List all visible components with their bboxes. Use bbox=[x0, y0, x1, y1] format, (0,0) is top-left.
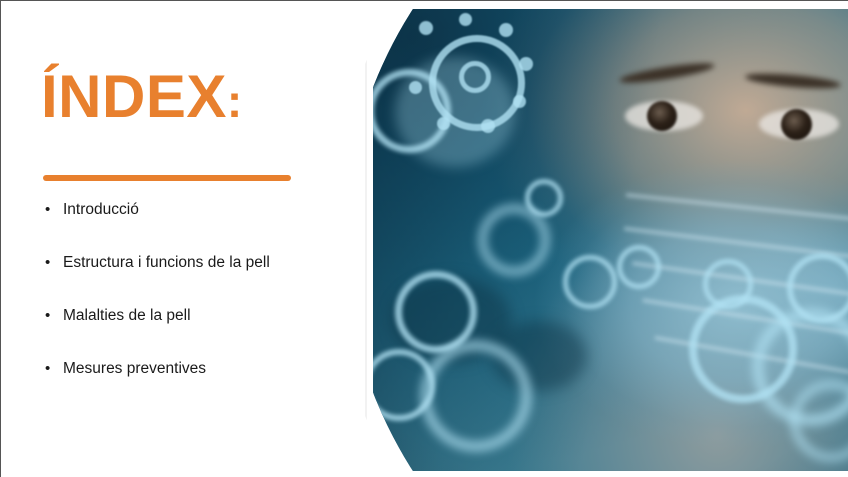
bullet-dot-icon: • bbox=[45, 252, 63, 274]
list-item[interactable]: • Malalties de la pell bbox=[45, 305, 365, 358]
bullet-dot-icon: • bbox=[45, 199, 63, 221]
presentation-slide: ÍNDEX: • Introducció • Estructura i func… bbox=[0, 0, 848, 477]
bullet-dot-icon: • bbox=[45, 305, 63, 327]
list-item-label: Malalties de la pell bbox=[63, 305, 191, 327]
list-item-label: Estructura i funcions de la pell bbox=[63, 252, 270, 274]
list-item[interactable]: • Estructura i funcions de la pell bbox=[45, 252, 365, 305]
page-title-colon: : bbox=[227, 75, 243, 127]
bullet-dot-icon: • bbox=[45, 358, 63, 380]
title-underline-rule bbox=[43, 175, 291, 181]
list-item[interactable]: • Mesures preventives bbox=[45, 358, 365, 411]
slide-image bbox=[373, 9, 848, 471]
list-item-label: Introducció bbox=[63, 199, 139, 221]
index-bullet-list: • Introducció • Estructura i funcions de… bbox=[45, 199, 365, 411]
list-item[interactable]: • Introducció bbox=[45, 199, 365, 252]
list-item-label: Mesures preventives bbox=[63, 358, 206, 380]
image-vignette-layer bbox=[373, 9, 848, 471]
page-title-text: ÍNDEX bbox=[41, 63, 227, 130]
slide-image-frame bbox=[359, 7, 848, 473]
page-title: ÍNDEX: bbox=[41, 67, 243, 127]
